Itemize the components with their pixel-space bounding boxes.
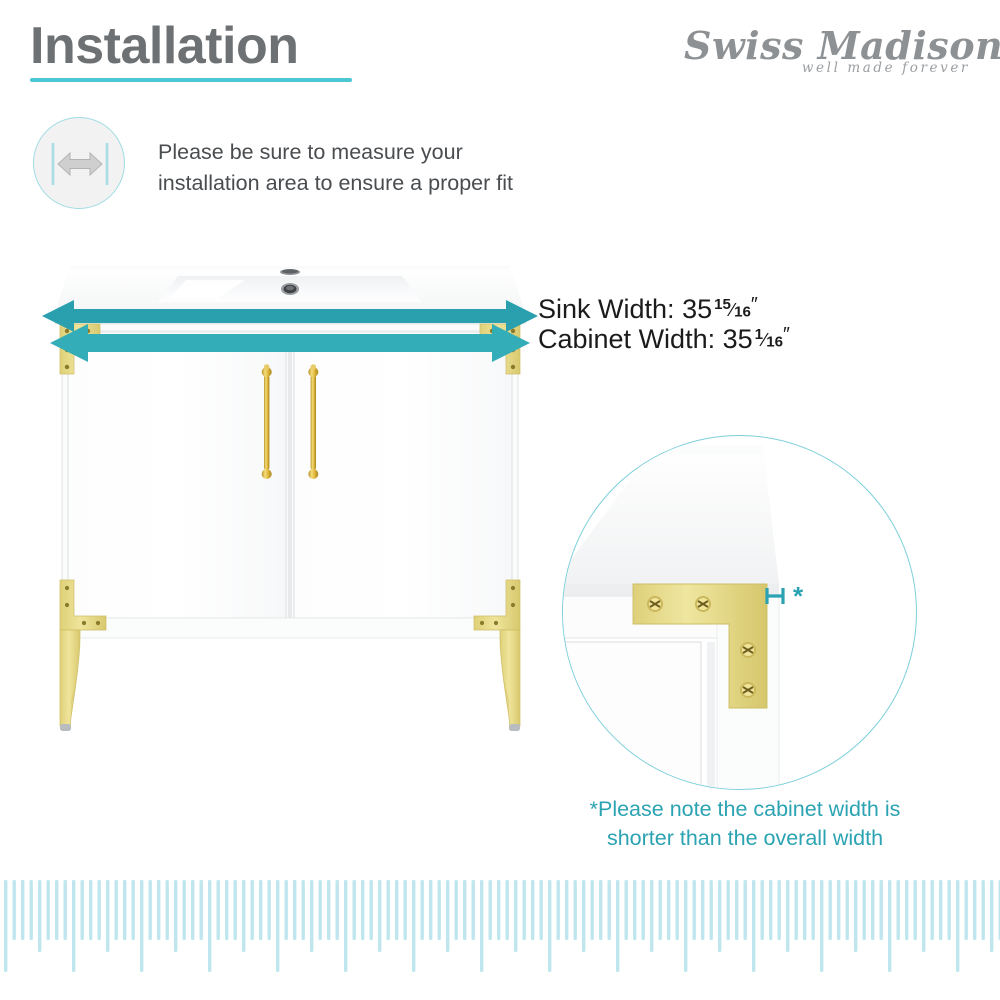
ruler-tick <box>98 880 101 940</box>
ruler-tick <box>642 880 645 940</box>
measure-instruction-text: Please be sure to measure your installat… <box>158 137 513 198</box>
ruler-tick <box>13 880 16 940</box>
ruler-tick <box>115 880 118 940</box>
ruler-tick <box>786 880 789 952</box>
ruler-tick <box>106 880 109 952</box>
ruler-tick <box>251 880 254 940</box>
ruler-tick <box>38 880 41 952</box>
cabinet-width-fraction: 1⁄16 <box>755 327 783 351</box>
ruler-tick <box>608 880 611 940</box>
ruler-tick <box>234 880 237 940</box>
ruler-tick <box>123 880 126 940</box>
ruler-tick <box>531 880 534 940</box>
sink-width-text: Sink Width: <box>538 294 675 324</box>
ruler-tick <box>285 880 288 940</box>
detail-asterisk-marker: * <box>793 581 804 611</box>
ruler-tick <box>344 880 347 972</box>
ruler-tick <box>81 880 84 940</box>
ruler-tick <box>727 880 730 940</box>
ruler-tick <box>319 880 322 940</box>
ruler-tick <box>480 880 483 972</box>
ruler-tick <box>225 880 228 940</box>
ruler-tick <box>880 880 883 940</box>
sink-width-fraction: 15⁄16 <box>714 297 751 321</box>
ruler-tick <box>863 880 866 940</box>
sink-width-whole: 35 <box>682 294 712 324</box>
ruler-tick <box>973 880 976 940</box>
ruler-tick <box>395 880 398 940</box>
cabinet-width-unit: ″ <box>783 324 790 346</box>
sink-width-label: Sink Width: 3515⁄16″ <box>538 294 790 324</box>
ruler-tick <box>387 880 390 940</box>
cabinet-width-label: Cabinet Width: 351⁄16″ <box>538 324 790 354</box>
cabinet-width-arrow <box>48 322 532 364</box>
installation-page: Installation Swiss Madison® well made fo… <box>0 0 1000 1000</box>
ruler-tick <box>404 880 407 940</box>
ruler-tick <box>693 880 696 940</box>
cabinet-width-footnote: *Please note the cabinet width is shorte… <box>545 795 945 853</box>
ruler-tick <box>302 880 305 940</box>
ruler-tick <box>548 880 551 972</box>
ruler-tick <box>633 880 636 940</box>
ruler-tick <box>982 880 985 940</box>
ruler-tick <box>327 880 330 940</box>
ruler-tick <box>293 880 296 940</box>
ruler-tick <box>30 880 33 940</box>
corner-detail-callout: * <box>562 435 917 790</box>
ruler-tick <box>990 880 993 952</box>
cabinet-body <box>62 324 518 638</box>
ruler-tick <box>183 880 186 940</box>
ruler-tick <box>914 880 917 940</box>
ruler-tick <box>701 880 704 940</box>
ruler-tick <box>599 880 602 940</box>
ruler-tick <box>310 880 313 952</box>
ruler-tick <box>650 880 653 952</box>
ruler-tick <box>837 880 840 940</box>
ruler-tick <box>455 880 458 940</box>
ruler-tick <box>769 880 772 940</box>
ruler-tick <box>761 880 764 940</box>
ruler-tick <box>684 880 687 972</box>
ruler-tick <box>744 880 747 940</box>
ruler-tick <box>948 880 951 940</box>
ruler-tick <box>557 880 560 940</box>
ruler-tick <box>778 880 781 940</box>
ruler-tick <box>829 880 832 940</box>
ruler-tick <box>514 880 517 952</box>
ruler-tick <box>489 880 492 940</box>
ruler-tick <box>897 880 900 940</box>
ruler-tick <box>939 880 942 940</box>
ruler-tick <box>616 880 619 972</box>
ruler-tick <box>846 880 849 940</box>
ruler-tick <box>200 880 203 940</box>
ruler-tick <box>89 880 92 940</box>
ruler-tick <box>191 880 194 940</box>
ruler-tick <box>735 880 738 940</box>
ruler-tick <box>64 880 67 940</box>
ruler-tick <box>149 880 152 940</box>
decorative-ruler <box>0 880 1000 1000</box>
ruler-tick <box>242 880 245 952</box>
ruler-tick <box>472 880 475 940</box>
ruler-tick <box>132 880 135 940</box>
ruler-tick <box>854 880 857 952</box>
ruler-tick <box>276 880 279 972</box>
ruler-tick <box>582 880 585 952</box>
ruler-tick <box>429 880 432 940</box>
width-labels: Sink Width: 3515⁄16″ Cabinet Width: 351⁄… <box>538 294 790 354</box>
ruler-tick <box>540 880 543 940</box>
ruler-tick <box>625 880 628 940</box>
ruler-ticks <box>4 880 1000 972</box>
cabinet-width-whole: 35 <box>723 324 753 354</box>
ruler-tick <box>922 880 925 952</box>
ruler-tick <box>871 880 874 940</box>
ruler-tick <box>710 880 713 940</box>
ruler-tick <box>268 880 271 940</box>
measure-arrow-icon <box>33 117 125 209</box>
ruler-tick <box>208 880 211 972</box>
sink-width-unit: ″ <box>751 294 758 316</box>
ruler-tick <box>4 880 7 972</box>
ruler-tick <box>795 880 798 940</box>
ruler-tick <box>378 880 381 952</box>
ruler-tick <box>47 880 50 940</box>
ruler-tick <box>965 880 968 940</box>
corner-detail-drawing: * <box>563 436 915 788</box>
ruler-tick <box>336 880 339 940</box>
ruler-tick <box>140 880 143 972</box>
ruler-tick <box>803 880 806 940</box>
ruler-tick <box>506 880 509 940</box>
ruler-tick <box>174 880 177 952</box>
ruler-tick <box>421 880 424 940</box>
ruler-tick <box>412 880 415 972</box>
ruler-tick <box>438 880 441 940</box>
page-title: Installation <box>30 20 298 72</box>
ruler-tick <box>820 880 823 972</box>
title-underline <box>30 78 352 82</box>
ruler-tick <box>931 880 934 940</box>
ruler-tick <box>361 880 364 940</box>
ruler-tick <box>812 880 815 940</box>
cabinet-width-text: Cabinet Width: <box>538 324 715 354</box>
ruler-tick <box>523 880 526 940</box>
ruler-tick <box>446 880 449 952</box>
ruler-tick <box>497 880 500 940</box>
ruler-tick <box>565 880 568 940</box>
ruler-tick <box>591 880 594 940</box>
ruler-tick <box>667 880 670 940</box>
ruler-tick <box>21 880 24 940</box>
ruler-tick <box>956 880 959 972</box>
ruler-tick <box>659 880 662 940</box>
ruler-tick <box>217 880 220 940</box>
ruler-tick <box>259 880 262 940</box>
ruler-tick <box>463 880 466 940</box>
measure-arrow-glyph <box>34 118 126 210</box>
ruler-tick <box>752 880 755 972</box>
ruler-tick <box>676 880 679 940</box>
ruler-tick <box>905 880 908 940</box>
ruler-tick <box>574 880 577 940</box>
ruler-tick <box>718 880 721 952</box>
ruler-tick <box>72 880 75 972</box>
brand-logo: Swiss Madison® well made forever <box>684 26 974 88</box>
ruler-tick <box>157 880 160 940</box>
ruler-tick <box>370 880 373 940</box>
ruler-tick <box>353 880 356 940</box>
ruler-tick <box>55 880 58 940</box>
ruler-tick <box>888 880 891 972</box>
ruler-tick <box>166 880 169 940</box>
